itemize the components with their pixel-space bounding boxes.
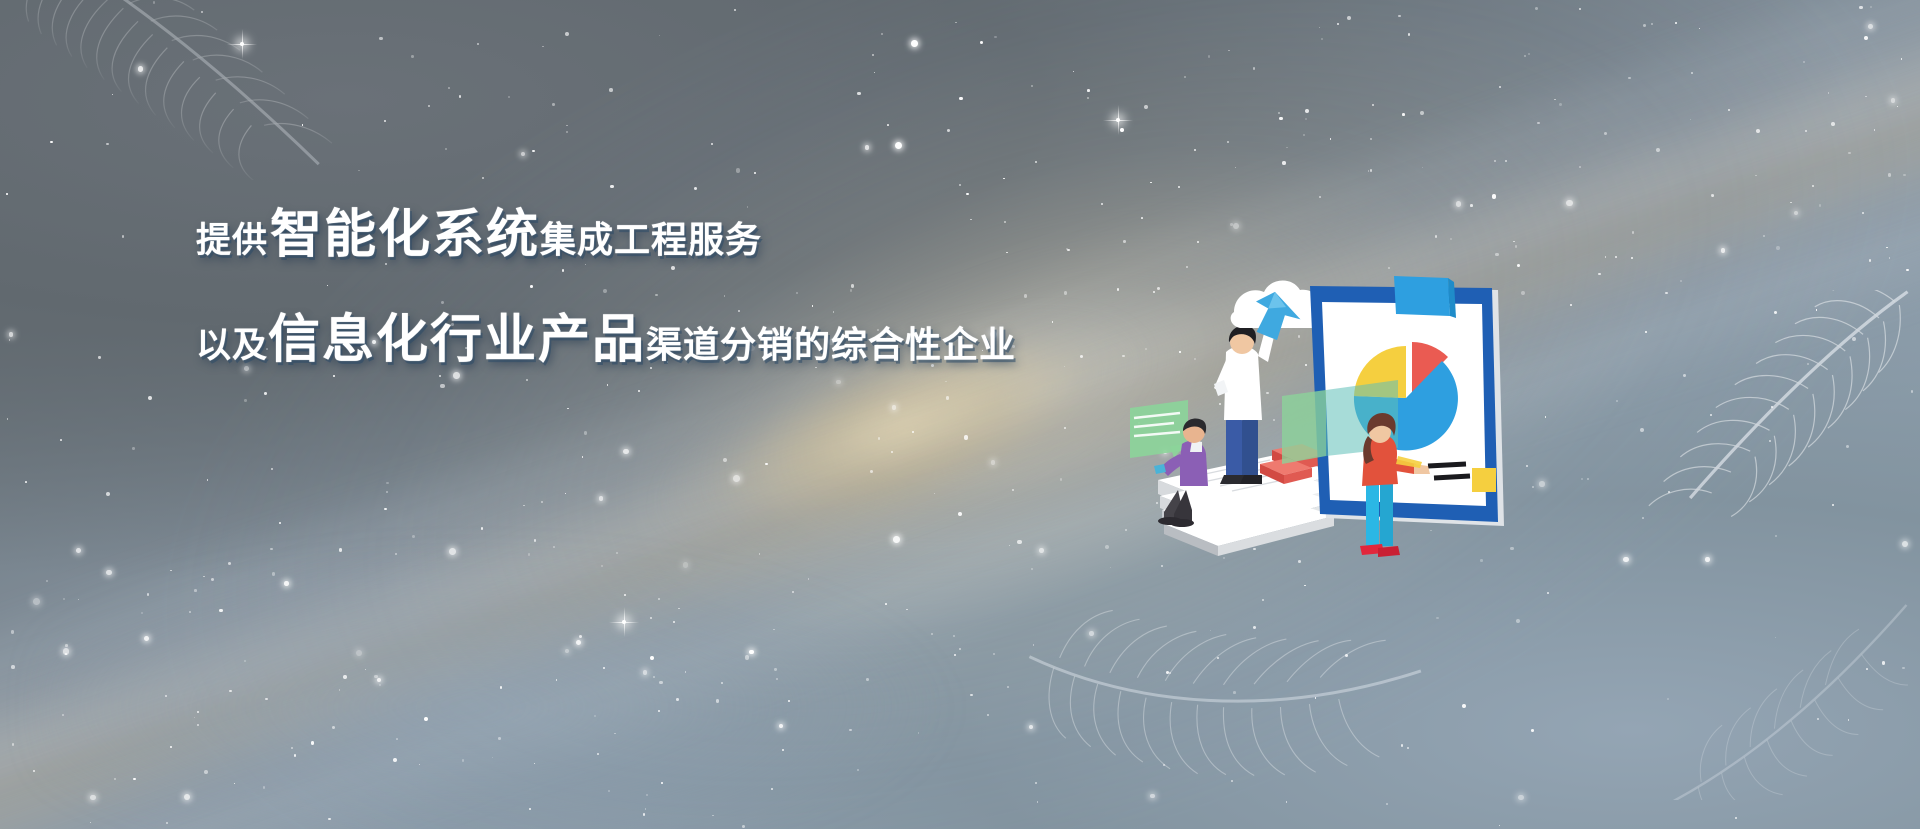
hero-banner: 提供 智能化系统 集成工程服务 以及 信息化行业产品 渠道分销的综合性企业 <box>0 0 1920 829</box>
headline-line1-suffix: 集成工程服务 <box>540 211 762 263</box>
headline-line2-prefix: 以及 <box>196 317 268 368</box>
feather-icon <box>1000 540 1440 800</box>
headline-block: 提供 智能化系统 集成工程服务 以及 信息化行业产品 渠道分销的综合性企业 <box>196 192 1076 372</box>
feather-icon <box>1590 290 1920 520</box>
feather-icon <box>0 0 400 180</box>
bright-star-icon <box>622 620 626 624</box>
headline-line2-emphasis: 信息化行业产品 <box>268 297 646 372</box>
feather-icon <box>1640 600 1920 800</box>
headline-line2-suffix: 渠道分销的综合性企业 <box>646 316 1016 368</box>
yellow-note <box>1472 468 1496 492</box>
headline-line1-prefix: 提供 <box>196 212 270 263</box>
headline-line1-emphasis: 智能化系统 <box>270 192 540 267</box>
bright-star-icon <box>1116 118 1120 122</box>
green-chat-panel <box>1130 400 1188 458</box>
business-analytics-illustration <box>1130 268 1550 568</box>
headline-line-1: 提供 智能化系统 集成工程服务 <box>196 192 1076 267</box>
headline-line-2: 以及 信息化行业产品 渠道分销的综合性企业 <box>196 297 1076 372</box>
